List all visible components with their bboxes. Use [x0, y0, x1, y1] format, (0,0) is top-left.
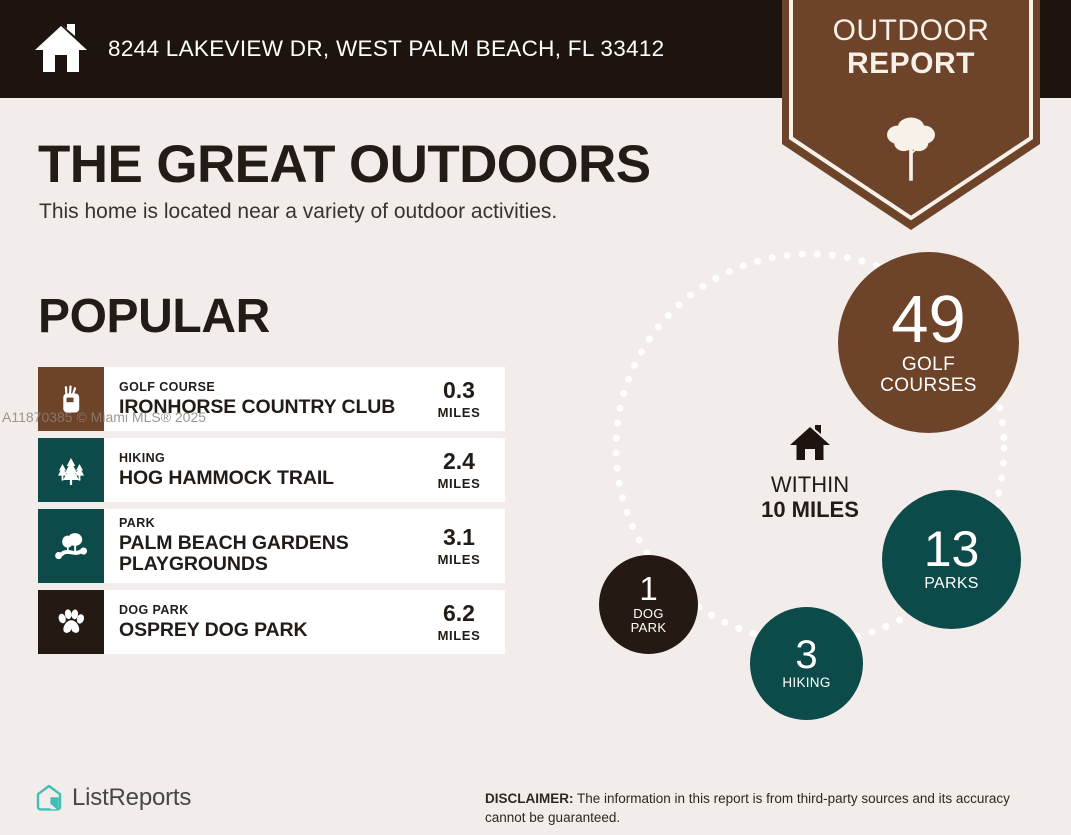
list-item-distance-unit: MILES	[419, 476, 499, 491]
list-item-distance-value: 3.1	[419, 526, 499, 549]
bubble-label-line2: COURSES	[880, 375, 977, 396]
list-item-distance: 6.2 MILES	[419, 590, 505, 654]
list-item[interactable]: PARK PALM BEACH GARDENS PLAYGROUNDS 3.1 …	[38, 509, 505, 583]
center-line1: WITHIN	[720, 473, 900, 498]
list-item-distance-unit: MILES	[419, 628, 499, 643]
outdoor-report-badge: OUTDOOR REPORT	[782, 0, 1040, 230]
list-item-distance: 0.3 MILES	[419, 367, 505, 431]
page-title: THE GREAT OUTDOORS	[38, 134, 650, 195]
list-item-category: PARK	[119, 516, 369, 532]
list-item-distance-value: 6.2	[419, 602, 499, 625]
disclaimer: DISCLAIMER: The information in this repo…	[485, 789, 1045, 827]
list-item-category: GOLF COURSE	[119, 380, 395, 396]
list-item-name: HOG HAMMOCK TRAIL	[119, 468, 334, 489]
outdoor-report-page: 8244 LAKEVIEW DR, WEST PALM BEACH, FL 33…	[0, 0, 1071, 835]
list-item-distance-value: 2.4	[419, 450, 499, 473]
pine-trees-icon	[38, 438, 104, 502]
house-icon	[789, 425, 831, 462]
popular-list: GOLF COURSE IRONHORSE COUNTRY CLUB 0.3 M…	[38, 367, 505, 661]
list-item-distance-unit: MILES	[419, 405, 499, 420]
page-subtitle: This home is located near a variety of o…	[39, 200, 557, 224]
bubble-label-line1: DOG	[631, 607, 667, 622]
list-item-distance: 3.1 MILES	[419, 509, 505, 583]
bubble-label: HIKING	[782, 675, 830, 690]
house-icon	[34, 24, 88, 74]
bubble-label-line1: GOLF	[880, 354, 977, 375]
bubble-label: GOLF COURSES	[880, 354, 977, 397]
paw-print-icon	[38, 590, 104, 654]
listreports-logo[interactable]: ListReports	[34, 783, 191, 813]
bubble-parks[interactable]: 13 PARKS	[882, 490, 1021, 629]
listreports-house-icon	[34, 783, 64, 813]
list-item-distance: 2.4 MILES	[419, 438, 505, 502]
list-item-category: DOG PARK	[119, 603, 307, 619]
list-item-category: HIKING	[119, 451, 334, 467]
center-line2: 10 MILES	[720, 498, 900, 523]
list-item-name: IRONHORSE COUNTRY CLUB	[119, 397, 395, 418]
property-address: 8244 LAKEVIEW DR, WEST PALM BEACH, FL 33…	[108, 36, 664, 62]
golf-bag-icon	[38, 367, 104, 431]
bubble-dog-park[interactable]: 1 DOG PARK	[599, 555, 698, 654]
listreports-logo-text: ListReports	[72, 784, 191, 812]
list-item-text: GOLF COURSE IRONHORSE COUNTRY CLUB	[104, 367, 419, 431]
diagram-center: WITHIN 10 MILES	[720, 425, 900, 522]
bubble-golf-courses[interactable]: 49 GOLF COURSES	[838, 252, 1019, 433]
list-item[interactable]: GOLF COURSE IRONHORSE COUNTRY CLUB 0.3 M…	[38, 367, 505, 431]
bubble-count: 3	[795, 636, 817, 674]
list-item-name: PALM BEACH GARDENS PLAYGROUNDS	[119, 533, 369, 576]
within-10-miles-diagram: 49 GOLF COURSES 13 PARKS 3 HIKING 1 DOG …	[565, 245, 1055, 725]
bubble-label: PARKS	[924, 575, 979, 593]
disclaimer-label: DISCLAIMER:	[485, 791, 574, 806]
list-item-text: HIKING HOG HAMMOCK TRAIL	[104, 438, 419, 502]
list-item[interactable]: HIKING HOG HAMMOCK TRAIL 2.4 MILES	[38, 438, 505, 502]
bubble-count: 13	[924, 526, 980, 574]
list-item-distance-value: 0.3	[419, 379, 499, 402]
bubble-count: 49	[891, 288, 966, 352]
bubble-hiking[interactable]: 3 HIKING	[750, 607, 863, 720]
bubble-count: 1	[639, 573, 657, 604]
list-item[interactable]: DOG PARK OSPREY DOG PARK 6.2 MILES	[38, 590, 505, 654]
badge-shield-shape	[782, 0, 1040, 230]
bubble-label-line2: PARK	[631, 621, 667, 636]
park-icon	[38, 509, 104, 583]
list-item-text: DOG PARK OSPREY DOG PARK	[104, 590, 419, 654]
popular-heading: POPULAR	[38, 289, 270, 344]
list-item-text: PARK PALM BEACH GARDENS PLAYGROUNDS	[104, 509, 419, 583]
list-item-name: OSPREY DOG PARK	[119, 620, 307, 641]
bubble-label: DOG PARK	[631, 607, 667, 636]
list-item-distance-unit: MILES	[419, 552, 499, 567]
